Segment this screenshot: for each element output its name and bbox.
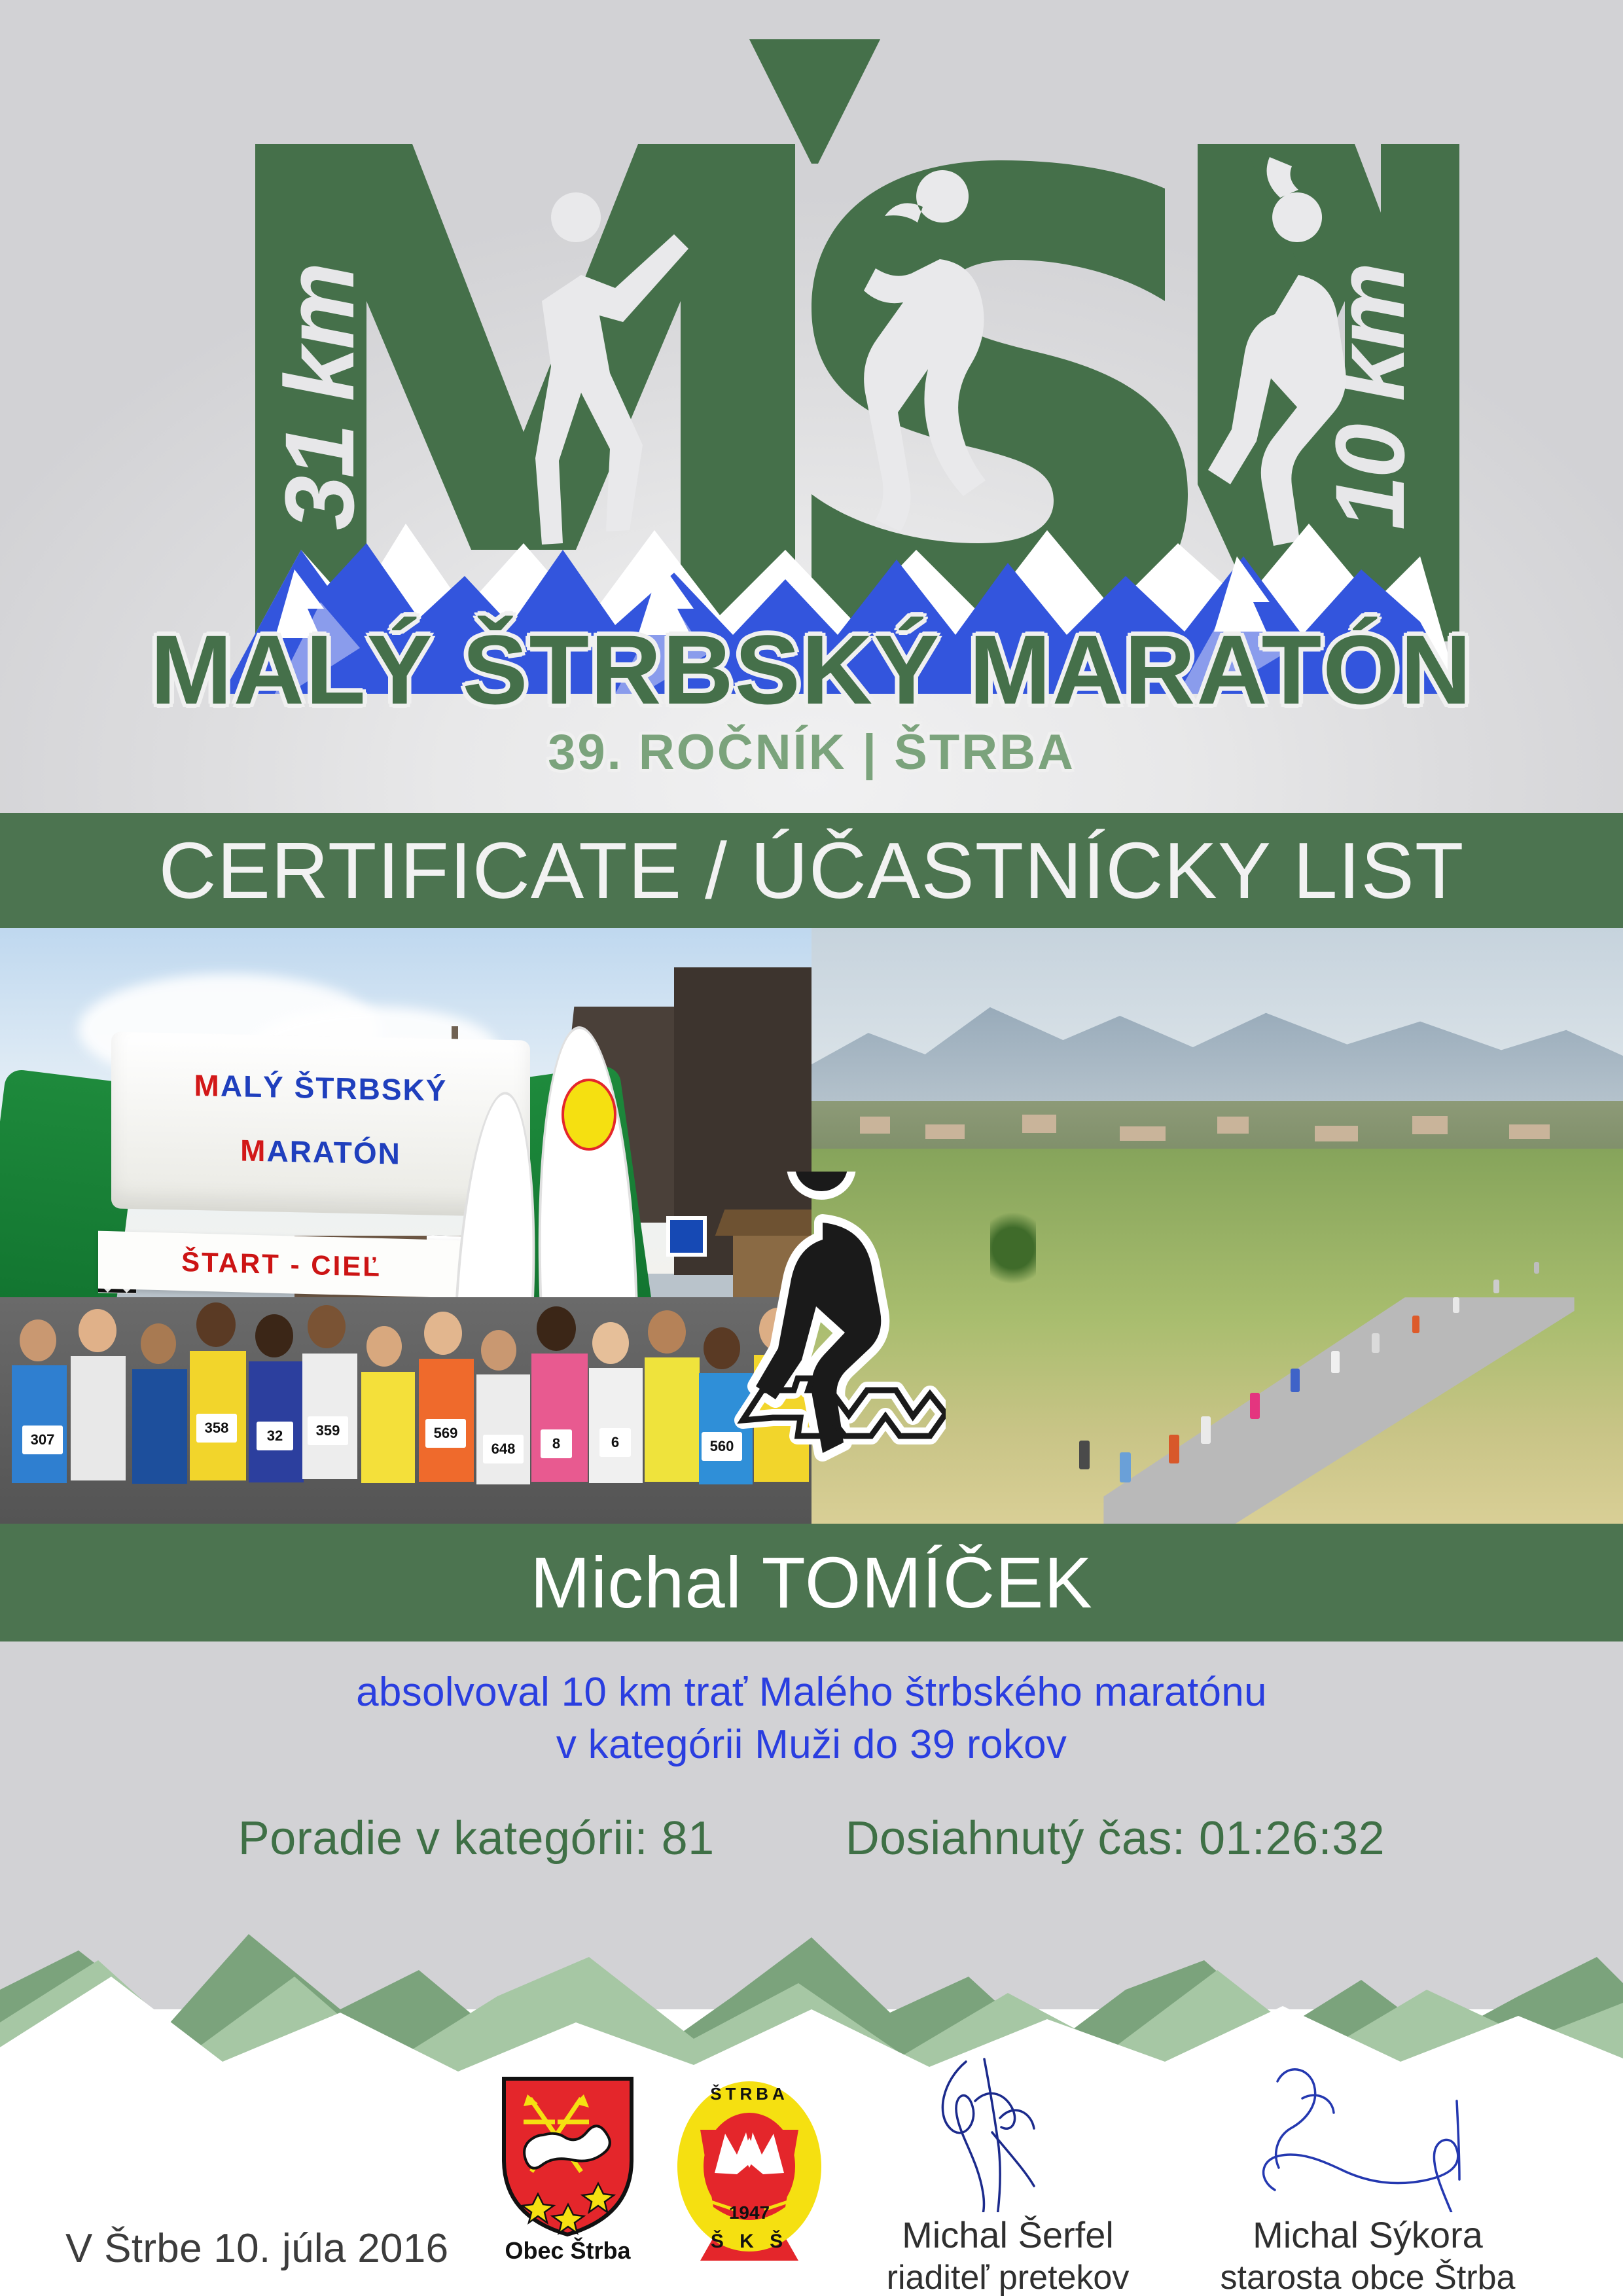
runner — [1534, 1262, 1539, 1274]
description-line-1: absolvoval 10 km trať Malého štrbského m… — [0, 1666, 1623, 1718]
result-row: Poradie v kategórii: 81 Dosiahnutý čas: … — [0, 1812, 1623, 1865]
spectator — [1079, 1441, 1090, 1469]
signatory-role: starosta obce Štrba — [1198, 2258, 1538, 2296]
runner-group: 307 358 32 359 569 648 8 6 560 — [0, 1297, 811, 1524]
finish-time: Dosiahnutý čas: 01:26:32 — [846, 1812, 1385, 1865]
certificate-page: 31 km 10 km — [0, 0, 1623, 2296]
signatory-role: riaditeľ pretekov — [838, 2258, 1178, 2296]
emblem-top-text: ŠTRBA — [710, 2084, 789, 2104]
arch-line2: ARATÓN — [266, 1134, 401, 1170]
crest-caption: Obec Štrba — [497, 2237, 638, 2265]
category-rank: Poradie v kategórii: 81 — [238, 1812, 715, 1865]
runner — [1169, 1435, 1179, 1463]
runner — [1412, 1316, 1419, 1333]
spectator — [1120, 1452, 1131, 1482]
signatory-name: Michal Šerfel — [838, 2214, 1178, 2256]
runner — [1291, 1369, 1300, 1392]
arch-line2-prefix: M — [240, 1133, 266, 1168]
svg-text:31 km: 31 km — [264, 265, 374, 530]
certificate-title: CERTIFICATE / ÚČASTNÍCKY LIST — [159, 831, 1465, 910]
certificate-title-band: CERTIFICATE / ÚČASTNÍCKY LIST — [0, 813, 1623, 928]
signatory-name: Michal Sýkora — [1198, 2214, 1538, 2256]
sports-club-emblem-svg: 1947 ŠTRBA Š K Š ŠPORTOVÝ KLUB — [674, 2070, 825, 2266]
sks-emblem-small — [562, 1079, 616, 1151]
runner — [1201, 1416, 1211, 1444]
runner — [1250, 1393, 1260, 1419]
tree — [990, 1202, 1036, 1294]
emblem-year: 1947 — [729, 2202, 770, 2223]
logo-header: 31 km 10 km — [0, 0, 1623, 813]
issue-date: V Štrbe 10. júla 2016 — [65, 2225, 448, 2272]
athlete-name: Michal TOMÍČEK — [530, 1541, 1093, 1624]
event-wordmark: MALÝ ŠTRBSKÝ MARATÓN 39. ROČNÍK | ŠTRBA — [0, 620, 1623, 778]
arch-line1: ALÝ ŠTRBSKÝ — [221, 1069, 448, 1107]
municipal-crest: Obec Štrba — [497, 2075, 638, 2271]
distance-left-label: 31 km — [264, 265, 374, 530]
signature-ink — [1198, 2055, 1538, 2212]
signature-ink — [838, 2055, 1178, 2212]
sports-club-emblem: 1947 ŠTRBA Š K Š ŠPORTOVÝ KLUB — [674, 2070, 825, 2266]
msm-badge-svg: MŠM — [723, 1172, 946, 1479]
description-line-2: v kategórii Muži do 39 rokov — [0, 1719, 1623, 1770]
event-edition: 39. ROČNÍK | ŠTRBA — [0, 728, 1623, 778]
start-finish-banner: ŠTART - CIEĽ — [98, 1231, 465, 1299]
runner — [1453, 1297, 1459, 1313]
runner — [1493, 1280, 1499, 1293]
municipal-crest-svg — [497, 2075, 638, 2238]
athlete-name-band: Michal TOMÍČEK — [0, 1524, 1623, 1641]
runner — [1372, 1333, 1380, 1353]
photo-start-line: MALÝ ŠTRBSKÝ MARATÓN ŠTART - CIEĽ — [0, 928, 811, 1524]
runner — [1331, 1351, 1340, 1373]
msm-runner-badge: MŠM — [723, 1172, 946, 1479]
event-name: MALÝ ŠTRBSKÝ MARATÓN — [0, 620, 1623, 719]
footer: V Štrbe 10. júla 2016 — [0, 2009, 1623, 2296]
arch-line1-prefix: M — [194, 1068, 221, 1103]
village — [811, 1101, 1623, 1155]
pedestrian-crossing-sign — [666, 1216, 707, 1257]
